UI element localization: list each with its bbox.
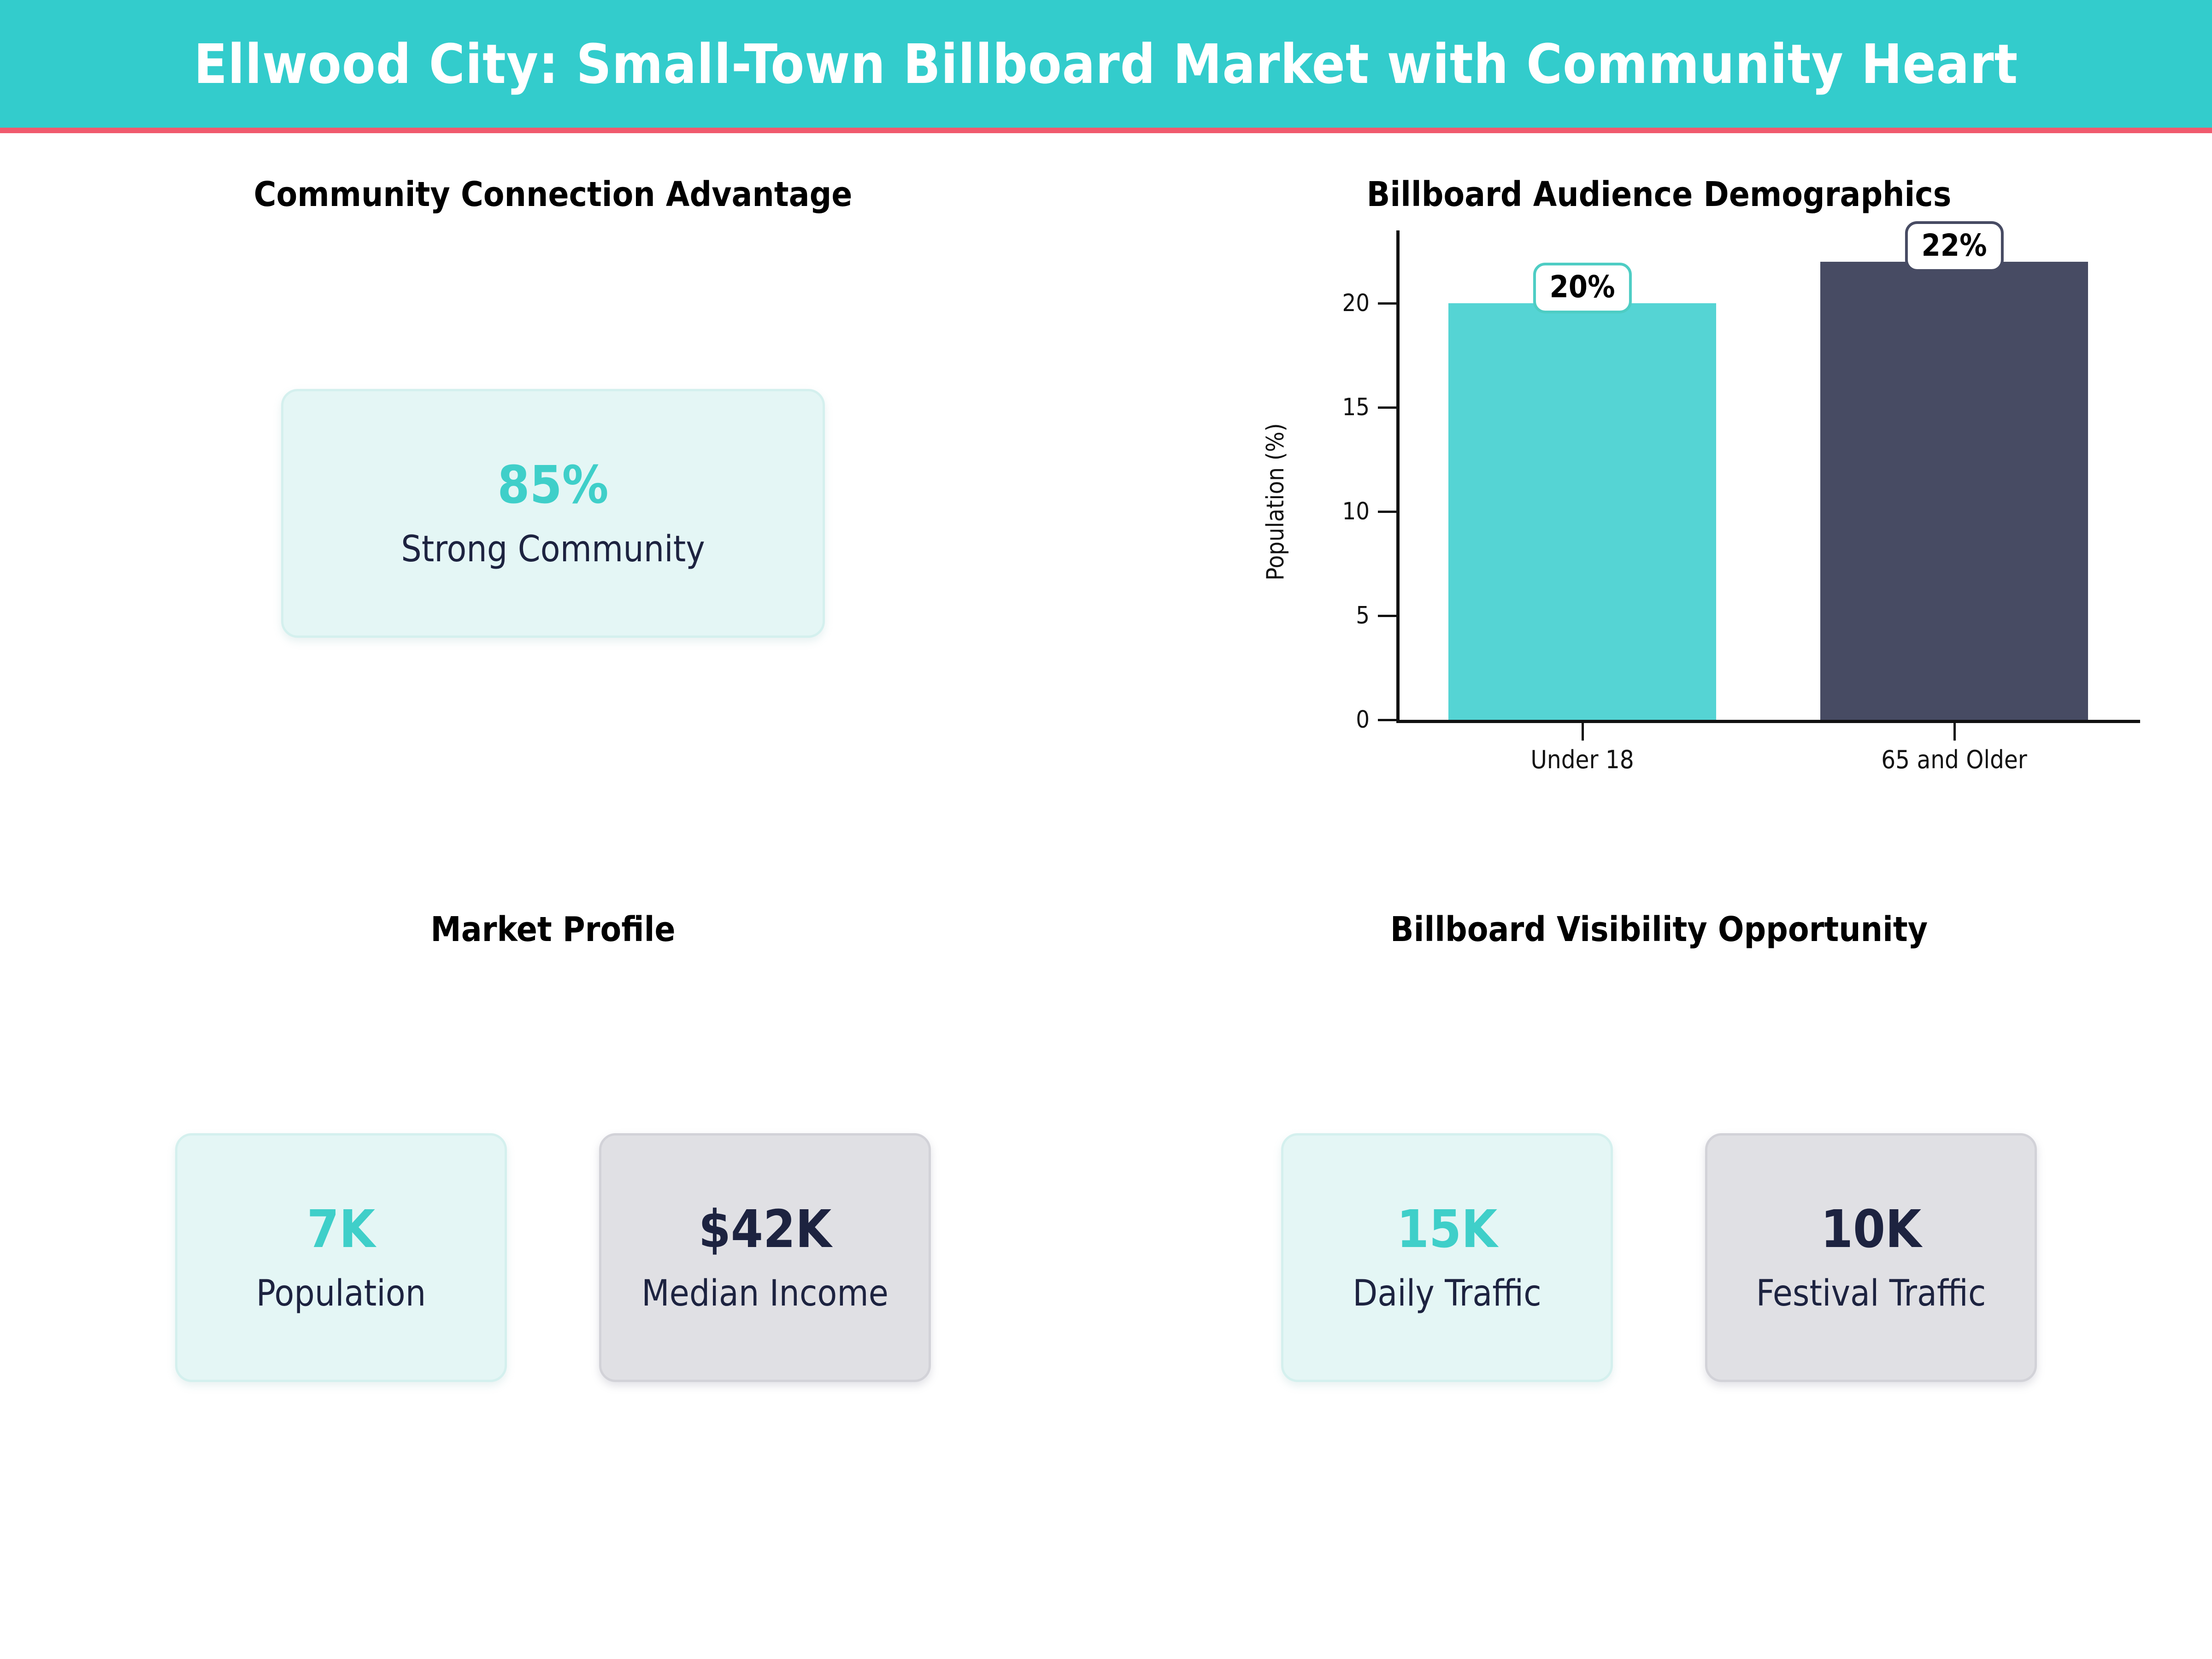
kpi-value: $42K — [699, 1204, 831, 1255]
kpi-label: Festival Traffic — [1756, 1276, 1986, 1312]
y-axis-tick — [1378, 302, 1396, 305]
kpi-value: 85% — [497, 459, 608, 511]
kpi-row-community: 85% Strong Community — [0, 389, 1106, 638]
bar-value-label: 20% — [1533, 263, 1631, 313]
y-axis-tick-label: 0 — [1356, 708, 1370, 732]
kpi-card-strong-community[interactable]: 85% Strong Community — [281, 389, 825, 638]
header-banner: Ellwood City: Small-Town Billboard Marke… — [0, 0, 2212, 128]
kpi-card-festival-traffic[interactable]: 10K Festival Traffic — [1705, 1133, 2037, 1382]
kpi-label: Median Income — [641, 1276, 888, 1312]
y-axis-tick-label: 15 — [1342, 395, 1370, 419]
bar[interactable] — [1820, 262, 2088, 720]
y-axis-tick-label: 5 — [1356, 604, 1370, 628]
section-title-market-profile: Market Profile — [0, 910, 1106, 949]
header-accent-stripe — [0, 128, 2212, 133]
kpi-value: 7K — [307, 1204, 375, 1255]
bar-value-label: 22% — [1905, 221, 2003, 272]
kpi-value: 15K — [1397, 1204, 1497, 1255]
chart-y-axis-label: Population (%) — [1262, 423, 1289, 580]
kpi-label: Strong Community — [401, 531, 705, 567]
y-axis-spine — [1396, 230, 1400, 720]
kpi-row-market-profile: 7K Population $42K Median Income — [0, 1133, 1106, 1382]
kpi-card-median-income[interactable]: $42K Median Income — [599, 1133, 931, 1382]
kpi-row-visibility: 15K Daily Traffic 10K Festival Traffic — [1106, 1133, 2212, 1382]
dashboard-page: Ellwood City: Small-Town Billboard Marke… — [0, 0, 2212, 1659]
x-axis-tick-label: Under 18 — [1530, 747, 1634, 772]
chart-plot-area: 05101520Under 1820%65 and Older22% — [1309, 230, 2138, 720]
bar-chart: Population (%) 05101520Under 1820%65 and… — [1106, 133, 2212, 866]
kpi-label: Population — [256, 1276, 426, 1312]
x-axis-tick-label: 65 and Older — [1881, 747, 2027, 772]
y-axis-tick — [1378, 511, 1396, 513]
kpi-card-daily-traffic[interactable]: 15K Daily Traffic — [1281, 1133, 1613, 1382]
x-axis-spine — [1396, 720, 2140, 723]
y-axis-tick-label: 10 — [1342, 500, 1370, 524]
section-title-community: Community Connection Advantage — [0, 175, 1106, 214]
section-title-visibility: Billboard Visibility Opportunity — [1106, 910, 2212, 949]
panel-market-profile: Market Profile 7K Population $42K Median… — [0, 866, 1106, 1659]
x-axis-tick — [1582, 723, 1584, 741]
y-axis-tick — [1378, 615, 1396, 617]
y-axis-tick — [1378, 719, 1396, 721]
panel-audience-demographics: Billboard Audience Demographics Populati… — [1106, 133, 2212, 866]
page-title: Ellwood City: Small-Town Billboard Marke… — [194, 32, 2018, 96]
kpi-value: 10K — [1821, 1204, 1921, 1255]
panel-billboard-visibility: Billboard Visibility Opportunity 15K Dai… — [1106, 866, 2212, 1659]
y-axis-tick — [1378, 406, 1396, 409]
bar[interactable] — [1448, 303, 1716, 720]
y-axis-tick-label: 20 — [1342, 291, 1370, 315]
panel-community-connection: Community Connection Advantage 85% Stron… — [0, 133, 1106, 866]
kpi-card-population[interactable]: 7K Population — [175, 1133, 507, 1382]
kpi-label: Daily Traffic — [1353, 1276, 1541, 1312]
x-axis-tick — [1953, 723, 1956, 741]
